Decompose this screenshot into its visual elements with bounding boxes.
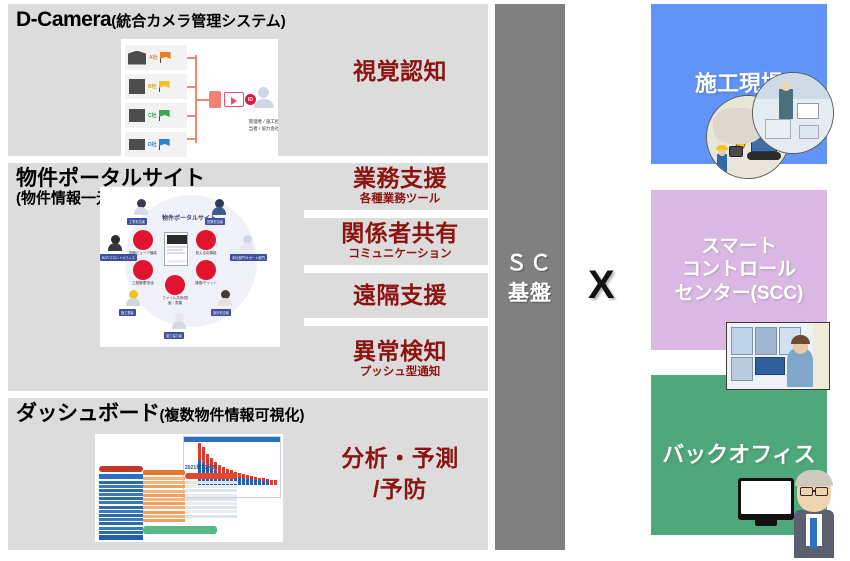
portal-node-caption: ファイル共有/図面・書類 (159, 296, 191, 305)
portal-figure: 物件ポータルサイト 図面ビューア機能 見える化機能 工程管理/安全 連絡/チャッ… (100, 187, 280, 347)
panel-dashboard-title: ダッシュボード(複数物件情報可視化) (16, 402, 305, 426)
connector-line (187, 115, 195, 117)
avatar (240, 235, 254, 252)
panel-d-camera: D-Camera(統合カメラ管理システム) A社 B社 C社 D社 (8, 4, 488, 156)
portal-role-tag: 本社部門/サポート部門 (230, 254, 267, 261)
portal-node-icon (133, 230, 153, 250)
portal-node-icon (133, 260, 153, 280)
panel-d-camera-title: D-Camera(統合カメラ管理システム) (16, 8, 286, 32)
heading-visual-recognition: 視覚認知 (304, 59, 496, 84)
connector-line (187, 57, 195, 59)
avatar (218, 290, 232, 307)
portal-role-tag: 設計担当者 (211, 309, 231, 316)
sc-platform-label-line1: ＳＣ (506, 247, 554, 277)
heading-anomaly-detection: 異常検知 (304, 339, 496, 364)
cross-multiply-symbol: X (588, 265, 615, 305)
panel-d-camera-title-main: D-Camera (16, 8, 111, 31)
dashboard-table-orange (143, 470, 185, 523)
portal-node-icon (196, 230, 216, 250)
businessman-illustration (784, 470, 838, 556)
heading-prevention: /予防 (304, 477, 496, 502)
d-camera-figure: A社 B社 C社 D社 (121, 39, 278, 157)
portal-role-tag: 施工協力者 (164, 332, 184, 339)
control-room-illustration (726, 322, 830, 390)
heading-business-support: 業務支援 (304, 166, 496, 191)
figure-label-d: D社 (148, 141, 157, 148)
camera-flag-icon (159, 110, 173, 121)
heading-remote-support: 遠隔支援 (304, 283, 496, 308)
scc-label-line3: センター(SCC) (675, 282, 804, 305)
office-workers-illustration (752, 72, 834, 154)
person-icon (258, 87, 274, 108)
camera-flag-icon (159, 81, 173, 92)
video-icon (224, 92, 244, 107)
dashboard-footer-bar (143, 526, 217, 534)
heading-analysis-prediction: 分析・予測 (304, 446, 496, 471)
figure-label-b: B社 (148, 83, 157, 90)
building-icon (129, 109, 145, 122)
panel-smart-control-center-label: スマート コントロール センター(SCC) (675, 235, 804, 305)
portal-role-tag: BCP/フロントオフィス (100, 254, 137, 261)
tablet-icon (164, 232, 188, 266)
building-icon (129, 79, 145, 94)
avatar (212, 199, 226, 216)
scc-label-line2: コントロール (675, 258, 804, 281)
dashboard-alert-card: 2021年10月29 (185, 464, 237, 519)
avatar (108, 235, 122, 252)
portal-node-caption: 見える化機能 (190, 251, 222, 256)
connector-line (187, 138, 195, 140)
dashboard-figure: 2021年10月29 (95, 434, 283, 542)
building-icon (128, 51, 146, 65)
connector-line (195, 99, 209, 101)
sc-platform-label-line2: 基盤 (508, 277, 552, 307)
divider (304, 318, 496, 326)
divider (304, 210, 496, 218)
avatar (172, 313, 186, 330)
panel-dashboard-title-sub: (複数物件情報可視化) (160, 407, 305, 424)
sc-platform-bar: ＳＣ 基盤 (495, 4, 565, 550)
subheading-business-support: 各種業務ツール (304, 193, 496, 206)
panel-back-office-label: バックオフィス (662, 442, 816, 469)
avatar (126, 290, 140, 307)
server-icon (209, 91, 221, 108)
figure-label-a: A社 (149, 54, 158, 61)
scc-label-line1: スマート (675, 235, 804, 258)
portal-node-caption: 連絡/チャット (190, 281, 222, 286)
d-camera-figure-caption: 管理者 / 施工担当者 / 協力会社 (247, 119, 278, 133)
portal-role-tag: 工事担当者 (127, 218, 147, 225)
dashboard-table-blue (99, 466, 143, 541)
heading-stakeholder-sharing: 関係者共有 (304, 221, 496, 246)
portal-role-tag: 施工業者 (119, 309, 136, 316)
diagram-canvas: D-Camera(統合カメラ管理システム) A社 B社 C社 D社 (0, 0, 850, 561)
figure-label-c: C社 (148, 112, 157, 119)
building-icon (129, 139, 145, 150)
camera-flag-icon (160, 52, 174, 63)
portal-node-icon (165, 275, 185, 295)
connector-line (187, 86, 195, 88)
panel-d-camera-title-sub: (統合カメラ管理システム) (111, 13, 286, 30)
portal-role-tag: 営業担当者 (205, 218, 225, 225)
portal-node-icon (196, 260, 216, 280)
dashboard-date: 2021年10月29 (185, 464, 237, 471)
panel-dashboard: ダッシュボード(複数物件情報可視化) (8, 398, 488, 550)
portal-node-caption: 工程管理/安全 (127, 281, 159, 286)
panel-bukken-portal: 物件ポータルサイト (物件情報一元化) 物件ポータルサイト 図面ビューア機能 見… (8, 163, 488, 391)
avatar (134, 199, 148, 216)
subheading-anomaly-detection: プッシュ型通知 (304, 366, 496, 379)
divider (304, 265, 496, 273)
panel-dashboard-title-main: ダッシュボード (16, 402, 160, 425)
camera-flag-icon (159, 139, 173, 150)
subheading-stakeholder-sharing: コミュニケーション (304, 248, 496, 261)
